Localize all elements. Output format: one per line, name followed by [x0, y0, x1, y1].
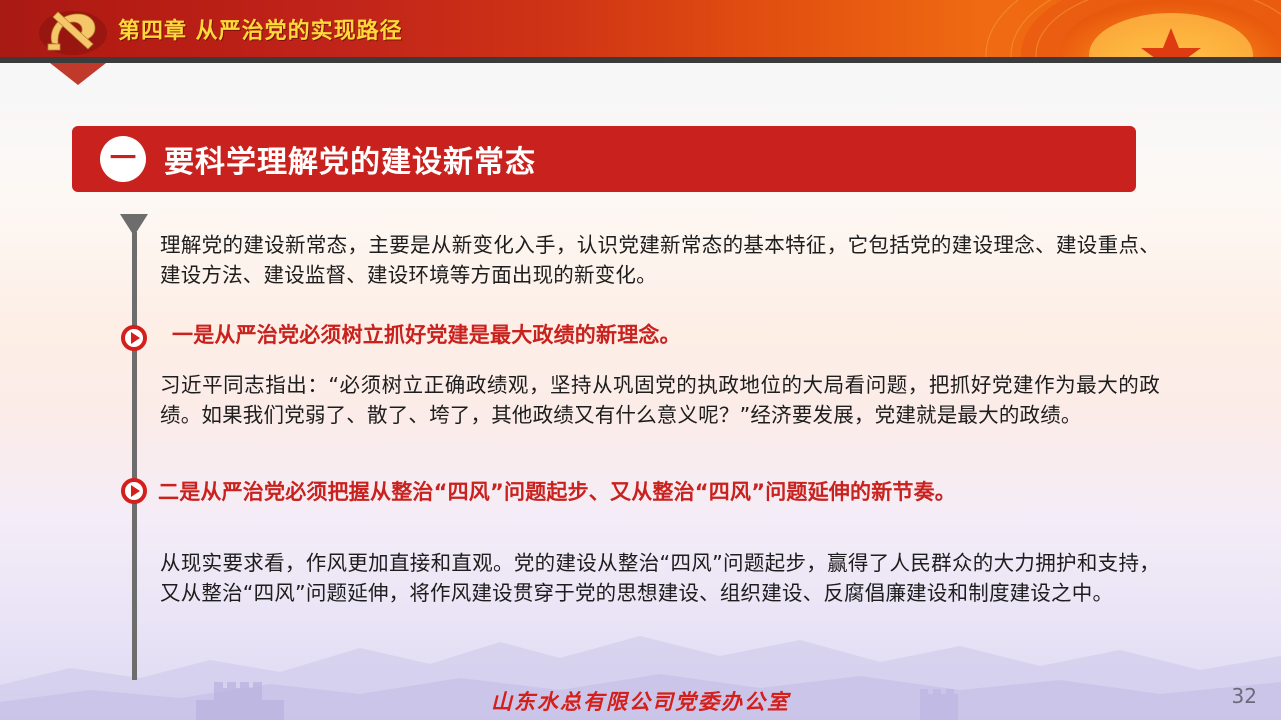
section-number-badge: 一 [100, 136, 146, 182]
header-divider [0, 57, 1281, 63]
point-heading-1: 一是从严治党必须树立抓好党建是最大政绩的新理念。 [172, 320, 1132, 351]
slide-canvas: 第四章 从严治党的实现路径 一 要科学理解党的建设新常态 理解党的建设新常态，主… [0, 0, 1281, 720]
red-star-sunburst-icon [981, 0, 1281, 57]
point-heading-2: 二是从严治党必须把握从整治“四风”问题起步、又从整治“四风”问题延伸的新节奏。 [158, 477, 1168, 508]
section-number-label: 一 [110, 146, 136, 172]
header-notch-icon [50, 63, 106, 85]
party-emblem-hammer-sickle-icon [36, 3, 110, 55]
play-circle-icon [121, 325, 147, 351]
page-number: 32 [1232, 684, 1257, 708]
section-heading: 要科学理解党的建设新常态 [164, 137, 536, 181]
intro-paragraph: 理解党的建设新常态，主要是从新变化入手，认识党建新常态的基本特征，它包括党的建设… [160, 230, 1160, 290]
header-banner: 第四章 从严治党的实现路径 [0, 0, 1281, 57]
point-paragraph-2: 从现实要求看，作风更加直接和直观。党的建设从整治“四风”问题起步，赢得了人民群众… [160, 548, 1160, 608]
timeline-vertical-line [132, 232, 137, 680]
footer-organization: 山东水总有限公司党委办公室 [0, 686, 1281, 716]
chapter-title: 第四章 从严治党的实现路径 [118, 13, 403, 45]
section-title-bar: 一 要科学理解党的建设新常态 [72, 126, 1136, 192]
point-paragraph-1: 习近平同志指出：“必须树立正确政绩观，坚持从巩固党的执政地位的大局看问题，把抓好… [160, 370, 1160, 430]
play-circle-icon [121, 478, 147, 504]
